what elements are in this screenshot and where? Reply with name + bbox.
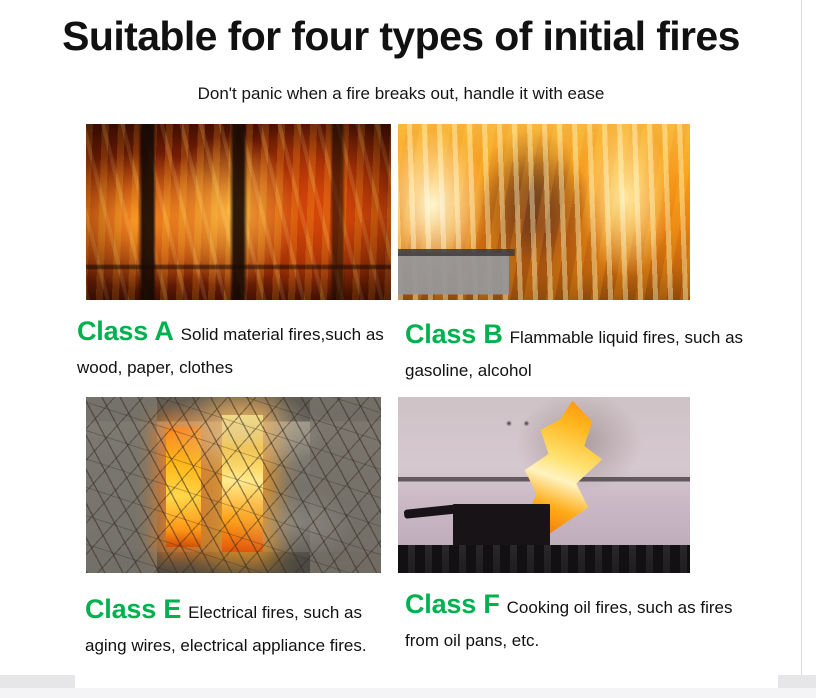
window-chrome-bottom-right <box>778 675 816 689</box>
class-e-image <box>86 397 381 573</box>
vignette-layer <box>86 124 391 300</box>
class-b-label: Class B <box>405 319 503 349</box>
class-b-image <box>398 124 690 300</box>
frying-pan <box>453 504 549 550</box>
class-a-caption: Class ASolid material fires,such as wood… <box>77 310 407 381</box>
class-f-label: Class F <box>405 589 500 619</box>
window-chrome-bottom-strip <box>0 688 816 698</box>
page-title: Suitable for four types of initial fires <box>0 14 802 60</box>
class-a-label: Class A <box>77 316 174 346</box>
class-f-caption: Class FCooking oil fires, such as fires … <box>405 583 750 654</box>
page-subtitle: Don't panic when a fire breaks out, hand… <box>0 84 802 104</box>
class-e-label: Class E <box>85 594 181 624</box>
class-b-caption: Class BFlammable liquid fires, such as g… <box>405 313 753 384</box>
class-e-caption: Class EElectrical fires, such as aging w… <box>85 588 403 659</box>
gas-hob-grate <box>398 545 690 573</box>
slide-canvas: Suitable for four types of initial fires… <box>0 0 802 698</box>
class-f-image <box>398 397 690 573</box>
class-a-image <box>86 124 391 300</box>
bare-branches-layer <box>86 397 381 573</box>
